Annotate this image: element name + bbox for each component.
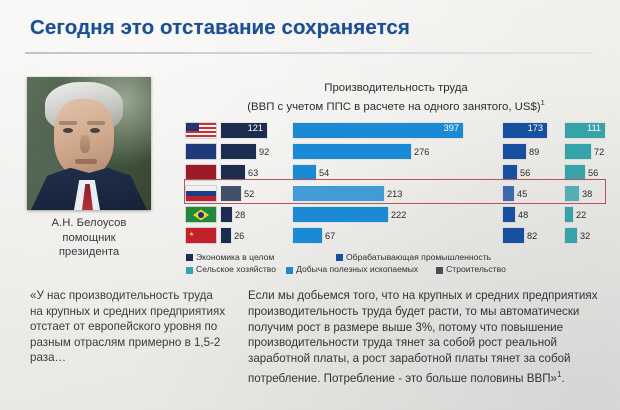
legend-item: Добыча полезных ископаемых xyxy=(286,264,436,276)
chart-bar xyxy=(221,228,231,243)
chart-value-label: 276 xyxy=(414,147,429,157)
chart-value-label: 38 xyxy=(582,189,592,199)
chart-cell: 56 xyxy=(565,165,620,180)
chart-bar xyxy=(503,165,517,180)
chart-value-label: 28 xyxy=(235,210,245,220)
legend-item: Сельское хозяйство xyxy=(186,264,276,276)
chart-bar xyxy=(565,186,579,201)
legend-swatch xyxy=(336,254,343,261)
chart-cell: 72 xyxy=(565,144,620,159)
chart-bar xyxy=(293,228,322,243)
chart-cell: 82 xyxy=(503,228,565,243)
legend-swatch xyxy=(436,267,443,274)
legend-label: Строительство xyxy=(446,264,506,276)
flag-icon xyxy=(186,186,216,201)
chart-bar xyxy=(293,144,411,159)
chart-value-label: 72 xyxy=(594,147,604,157)
chart-title: Производительность труда (ВВП с учетом П… xyxy=(186,82,606,114)
chart-title-line-2: (ВВП с учетом ППС в расчете на одного за… xyxy=(186,96,606,114)
body-paragraph-text: Если мы добьемся того, что на крупных и … xyxy=(248,289,598,385)
chart-bar xyxy=(565,207,573,222)
body-paragraph-tail: . xyxy=(561,372,564,385)
chart-bar xyxy=(503,228,524,243)
flag-icon xyxy=(186,165,216,180)
chart-cell: 52 xyxy=(221,186,293,201)
chart-cell: 32 xyxy=(565,228,620,243)
chart-title-footnote: 1 xyxy=(541,98,545,107)
chart-value-label: 63 xyxy=(248,168,258,178)
chart-value-label: 48 xyxy=(518,210,528,220)
chart-row: 92276897243 xyxy=(186,142,606,162)
quote-text: «У нас производительность труда на крупн… xyxy=(30,288,226,366)
chart-value-label: 52 xyxy=(244,189,254,199)
page-title: Сегодня это отставание сохраняется xyxy=(30,16,590,40)
caption-name: А.Н. Белоусов xyxy=(8,216,170,231)
legend-item: Экономика в целом xyxy=(186,252,336,264)
chart-cell: 213 xyxy=(293,186,503,201)
legend-label: Обрабатывающая промышленность xyxy=(346,252,491,264)
chart-cell: 26 xyxy=(221,228,293,243)
chart-cell: 38 xyxy=(565,186,620,201)
chart-cell: 63 xyxy=(221,165,293,180)
chart-row: 6354565613 xyxy=(186,163,606,183)
chart-cell: 67 xyxy=(293,228,503,243)
chart-bar xyxy=(221,165,245,180)
chart-row: 28222482212 xyxy=(186,205,606,225)
chart-row: 266782325 xyxy=(186,226,606,246)
chart-rows: 1213971731116592276897243635456561352213… xyxy=(186,121,606,246)
chart-bar xyxy=(293,207,388,222)
chart-value-label: 397 xyxy=(444,123,459,133)
chart-bar xyxy=(221,144,256,159)
slide-page: Сегодня это отставание сохраняется А.Н. … xyxy=(0,0,620,410)
chart-cell: 111 xyxy=(565,123,620,138)
chart-bar: 397 xyxy=(293,123,463,138)
chart-cell: 276 xyxy=(293,144,503,159)
chart-row: 12139717311165 xyxy=(186,121,606,141)
chart-value-label: 173 xyxy=(528,123,543,133)
chart-value-label: 45 xyxy=(517,189,527,199)
title-divider xyxy=(25,52,593,54)
chart-cell: 54 xyxy=(293,165,503,180)
chart-row: 52213453810 xyxy=(186,184,606,204)
chart-value-label: 89 xyxy=(529,147,539,157)
legend-label: Экономика в целом xyxy=(196,252,274,264)
flag-icon xyxy=(186,228,216,243)
chart-bar xyxy=(293,165,316,180)
legend-label: Сельское хозяйство xyxy=(196,264,276,276)
flag-icon xyxy=(186,123,216,138)
chart-subtitle-text: (ВВП с учетом ППС в расчете на одного за… xyxy=(247,100,540,112)
chart-cell: 28 xyxy=(221,207,293,222)
chart-value-label: 54 xyxy=(319,168,329,178)
chart-value-label: 82 xyxy=(527,231,537,241)
chart-cell: 121 xyxy=(221,123,293,138)
chart-bar xyxy=(221,207,232,222)
chart-value-label: 56 xyxy=(520,168,530,178)
chart-value-label: 32 xyxy=(580,231,590,241)
chart-value-label: 213 xyxy=(387,189,402,199)
chart-bar xyxy=(503,186,514,201)
body-paragraph: Если мы добьемся того, что на крупных и … xyxy=(248,288,600,387)
chart-value-label: 22 xyxy=(576,210,586,220)
chart-cell: 89 xyxy=(503,144,565,159)
chart-cell: 397 xyxy=(293,123,503,138)
legend-item: Строительство xyxy=(436,264,506,276)
legend-swatch xyxy=(186,267,193,274)
productivity-chart: Производительность труда (ВВП с учетом П… xyxy=(186,82,606,277)
portrait-photo xyxy=(27,77,151,210)
chart-cell: 56 xyxy=(503,165,565,180)
legend-swatch xyxy=(286,267,293,274)
chart-bar xyxy=(293,186,384,201)
caption-role-1: помощник xyxy=(8,231,170,246)
chart-value-label: 67 xyxy=(325,231,335,241)
photo-caption: А.Н. Белоусов помощник президента xyxy=(8,216,170,260)
caption-role-2: президента xyxy=(8,245,170,260)
legend-item: Обрабатывающая промышленность xyxy=(336,252,541,264)
chart-bar: 111 xyxy=(565,123,605,138)
chart-bar xyxy=(221,186,241,201)
chart-value-label: 26 xyxy=(234,231,244,241)
chart-bar xyxy=(565,228,577,243)
chart-cell: 92 xyxy=(221,144,293,159)
chart-bar xyxy=(503,144,526,159)
chart-cell: 222 xyxy=(293,207,503,222)
chart-value-label: 92 xyxy=(259,147,269,157)
chart-value-label: 222 xyxy=(391,210,406,220)
chart-bar: 121 xyxy=(221,123,267,138)
chart-title-line-1: Производительность труда xyxy=(186,82,606,96)
chart-bar xyxy=(503,207,515,222)
chart-bar xyxy=(565,144,591,159)
chart-legend: Экономика в целомОбрабатывающая промышле… xyxy=(186,252,606,277)
legend-label: Добыча полезных ископаемых xyxy=(296,264,418,276)
flag-icon xyxy=(186,207,216,222)
chart-value-label: 56 xyxy=(588,168,598,178)
legend-swatch xyxy=(186,254,193,261)
chart-bar xyxy=(565,165,585,180)
chart-bar: 173 xyxy=(503,123,547,138)
chart-cell: 22 xyxy=(565,207,620,222)
chart-cell: 45 xyxy=(503,186,565,201)
chart-cell: 173 xyxy=(503,123,565,138)
flag-icon xyxy=(186,144,216,159)
chart-cell: 48 xyxy=(503,207,565,222)
chart-value-label: 111 xyxy=(587,123,601,133)
chart-value-label: 121 xyxy=(248,123,263,133)
